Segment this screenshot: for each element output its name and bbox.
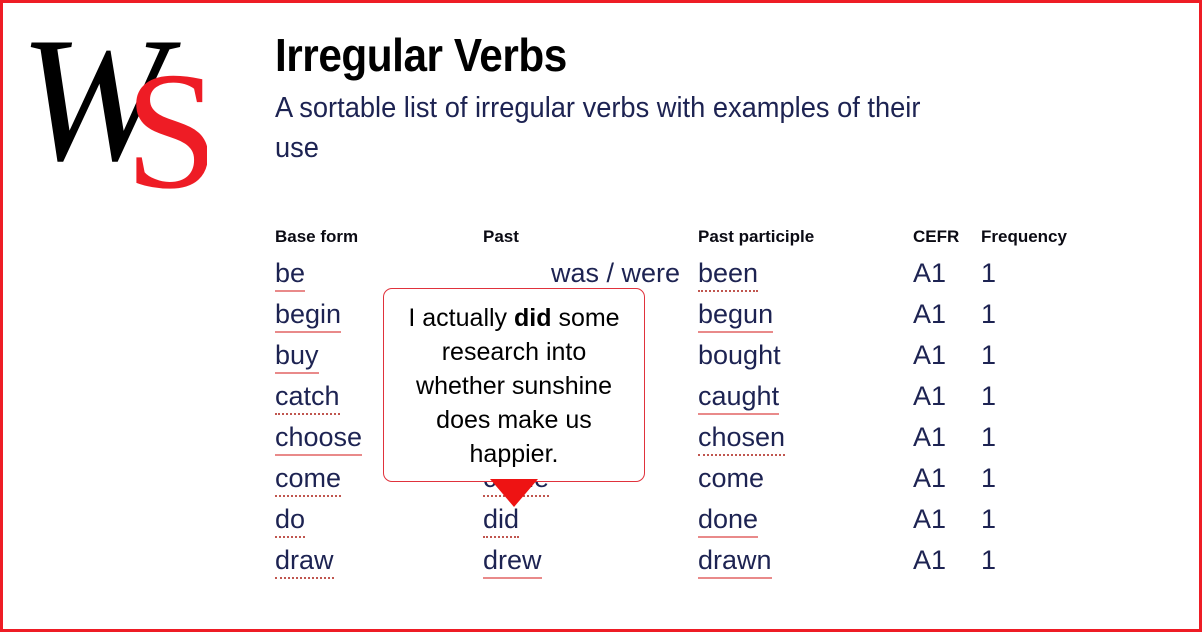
- cell-frequency: 1: [981, 335, 1101, 376]
- table-row: draw drew drawn A1 1: [275, 540, 1101, 581]
- verb-past-participle[interactable]: chosen: [698, 424, 785, 456]
- cell-cefr: A1: [913, 253, 981, 294]
- cell-base-form[interactable]: draw: [275, 540, 483, 581]
- verb-past-participle[interactable]: begun: [698, 301, 773, 333]
- cell-past-participle[interactable]: begun: [698, 294, 913, 335]
- column-header-past[interactable]: Past: [483, 227, 698, 253]
- verb-past-participle[interactable]: bought: [698, 342, 781, 374]
- cell-past-participle[interactable]: come: [698, 458, 913, 499]
- cell-base-form[interactable]: do: [275, 499, 483, 540]
- cell-frequency: 1: [981, 540, 1101, 581]
- verb-past[interactable]: drew: [483, 547, 542, 579]
- verb-past[interactable]: did: [483, 506, 519, 538]
- tooltip-arrow-icon: [490, 479, 538, 507]
- verb-base-form[interactable]: come: [275, 465, 341, 497]
- verb-past-participle[interactable]: caught: [698, 383, 779, 415]
- cell-past[interactable]: drew: [483, 540, 698, 581]
- column-header-frequency[interactable]: Frequency: [981, 227, 1101, 253]
- cell-past-participle[interactable]: chosen: [698, 417, 913, 458]
- verb-base-form[interactable]: choose: [275, 424, 362, 456]
- cell-cefr: A1: [913, 540, 981, 581]
- verb-past-participle[interactable]: drawn: [698, 547, 772, 579]
- cell-past-participle[interactable]: bought: [698, 335, 913, 376]
- cell-cefr: A1: [913, 417, 981, 458]
- svg-text:S: S: [125, 38, 207, 199]
- verb-base-form[interactable]: catch: [275, 383, 340, 415]
- cell-cefr: A1: [913, 335, 981, 376]
- table-row: do did done A1 1: [275, 499, 1101, 540]
- tooltip-text-highlight: did: [514, 304, 552, 332]
- cell-frequency: 1: [981, 253, 1101, 294]
- title-block: Irregular Verbs A sortable list of irreg…: [275, 31, 1035, 168]
- verb-base-form[interactable]: buy: [275, 342, 319, 374]
- cell-cefr: A1: [913, 294, 981, 335]
- column-header-cefr[interactable]: CEFR: [913, 227, 981, 253]
- verb-base-form[interactable]: draw: [275, 547, 334, 579]
- cell-frequency: 1: [981, 458, 1101, 499]
- cell-cefr: A1: [913, 458, 981, 499]
- cell-frequency: 1: [981, 417, 1101, 458]
- cell-past-participle[interactable]: drawn: [698, 540, 913, 581]
- table-header-row: Base form Past Past participle CEFR Freq…: [275, 227, 1101, 253]
- page-root: W S Irregular Verbs A sortable list of i…: [0, 0, 1202, 632]
- example-tooltip: I actually did some research into whethe…: [383, 288, 645, 482]
- verb-past-participle[interactable]: done: [698, 506, 758, 538]
- verb-base-form[interactable]: begin: [275, 301, 341, 333]
- verb-base-form[interactable]: do: [275, 506, 305, 538]
- cell-cefr: A1: [913, 376, 981, 417]
- column-header-base-form[interactable]: Base form: [275, 227, 483, 253]
- cell-frequency: 1: [981, 294, 1101, 335]
- verb-base-form[interactable]: be: [275, 260, 305, 292]
- ws-logo[interactable]: W S: [17, 19, 207, 199]
- page-subtitle: A sortable list of irregular verbs with …: [275, 89, 924, 168]
- column-header-past-participle[interactable]: Past participle: [698, 227, 913, 253]
- cell-past-participle[interactable]: been: [698, 253, 913, 294]
- verb-past-participle[interactable]: come: [698, 465, 764, 497]
- cell-cefr: A1: [913, 499, 981, 540]
- tooltip-text-before: I actually: [408, 304, 514, 332]
- cell-frequency: 1: [981, 499, 1101, 540]
- page-title: Irregular Verbs: [275, 31, 974, 79]
- cell-frequency: 1: [981, 376, 1101, 417]
- cell-past-participle[interactable]: done: [698, 499, 913, 540]
- page-header: W S Irregular Verbs A sortable list of i…: [3, 3, 1202, 213]
- cell-past-participle[interactable]: caught: [698, 376, 913, 417]
- verb-past-participle[interactable]: been: [698, 260, 758, 292]
